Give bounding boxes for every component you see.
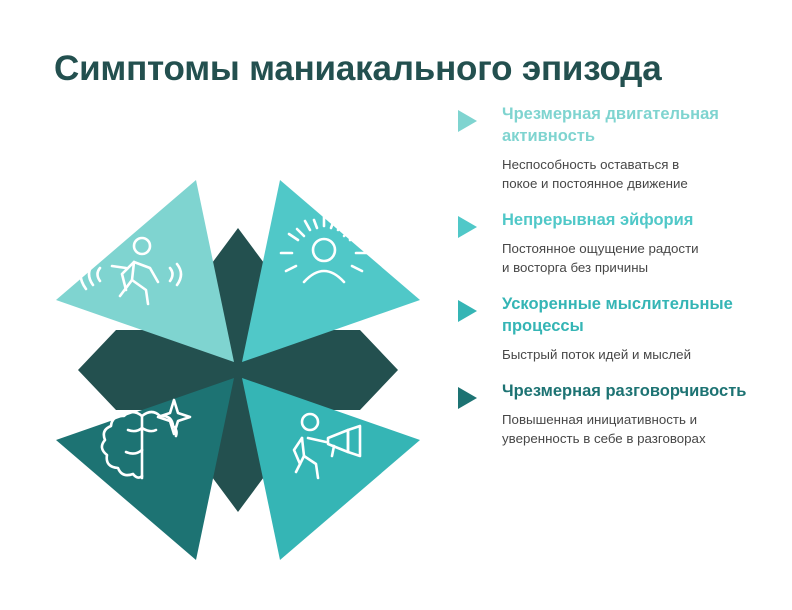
arrow-right-icon [458, 387, 477, 409]
arrow-right-icon [458, 216, 477, 238]
list-item[interactable]: Непрерывная эйфория Постоянное ощущение … [458, 210, 758, 277]
arrow-right-icon [458, 110, 477, 132]
arrow-right-icon [458, 300, 477, 322]
list-item[interactable]: Чрезмерная двигательная активность Неспо… [458, 104, 758, 193]
symptom-description: Быстрый поток идей и мыслей [502, 345, 758, 364]
list-item[interactable]: Чрезмерная разговорчивость Повышенная ин… [458, 381, 758, 448]
page-title: Симптомы маниакального эпизода [54, 49, 754, 89]
symptom-heading: Чрезмерная разговорчивость [502, 381, 758, 403]
infographic-page: Симптомы маниакального эпизода [0, 0, 792, 610]
symptom-heading: Непрерывная эйфория [502, 210, 758, 232]
symptom-diagram [38, 150, 438, 570]
symptom-description: Неспособность оставаться в покое и посто… [502, 155, 758, 194]
symptom-description: Повышенная инициативность и уверенность … [502, 410, 758, 449]
symptom-heading: Чрезмерная двигательная активность [502, 104, 758, 148]
symptom-heading: Ускоренные мыслительные процессы [502, 294, 758, 338]
symptom-description: Постоянное ощущение радости и восторга б… [502, 239, 758, 278]
list-item[interactable]: Ускоренные мыслительные процессы Быстрый… [458, 294, 758, 364]
symptom-list: Чрезмерная двигательная активность Неспо… [458, 104, 758, 465]
